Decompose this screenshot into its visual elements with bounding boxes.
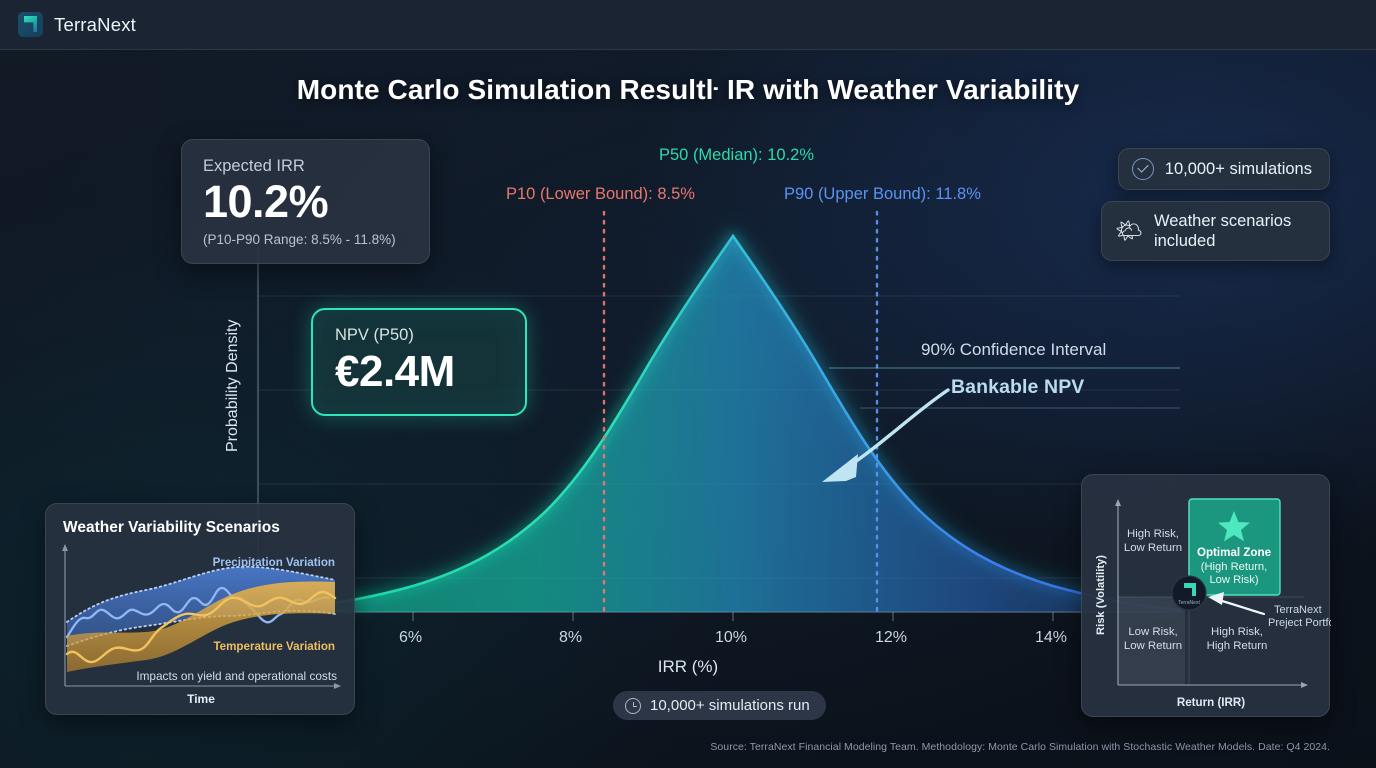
- quadrant-y-arrow: [1115, 499, 1121, 506]
- expected-irr-value: 10.2%: [203, 178, 409, 227]
- expected-irr-card: Expected IRR 10.2% (P10-P90 Range: 8.5% …: [181, 139, 430, 264]
- quadrant-label-bottom-right-2: High Return: [1207, 640, 1268, 652]
- optimal-zone-subtitle-1: (High Return,: [1201, 561, 1268, 573]
- clock-icon: [625, 698, 641, 714]
- expected-irr-label: Expected IRR: [203, 157, 409, 176]
- simulations-run-badge[interactable]: 10,000+ simulations run: [613, 691, 826, 720]
- weather-x-arrow: [334, 683, 341, 689]
- quadrant-xlabel: Return (IRR): [1177, 696, 1245, 709]
- x-ticks: [413, 612, 1053, 621]
- weather-scenarios-badge[interactable]: 🌤 Weather scenarios included: [1101, 201, 1330, 261]
- app-topbar: TerraNext: [0, 0, 1376, 50]
- weather-inset-title: Weather Variability Scenarios: [63, 519, 280, 537]
- xtick-14: 14%: [1035, 629, 1067, 647]
- xtick-10: 10%: [715, 629, 747, 647]
- optimal-zone-subtitle-2: Low Risk): [1209, 574, 1258, 586]
- check-circle-icon: [1132, 158, 1154, 180]
- quadrant-label-top-left-2: Low Return: [1124, 542, 1182, 554]
- p90-label: P90 (Upper Bound): 11.8%: [784, 185, 981, 204]
- temperature-series-label: Temperature Variation: [213, 640, 335, 653]
- confidence-interval-label: 90% Confidence Interval: [921, 340, 1106, 360]
- precipitation-series-label: Precipitation Variation: [213, 556, 335, 569]
- weather-caption: Impacts on yield and operational costs: [136, 669, 337, 683]
- xtick-6: 6%: [399, 629, 422, 647]
- simulations-badge-label: 10,000+ simulations: [1165, 159, 1312, 179]
- quadrant-label-bottom-left-2: Low Return: [1124, 640, 1182, 652]
- quadrant-ylabel: Risk (Volatility): [1095, 555, 1107, 635]
- portfolio-callout-line2: Preject Portfolio: [1268, 617, 1331, 629]
- bankable-npv-label: Bankable NPV: [951, 376, 1084, 399]
- quadrant-label-bottom-right: High Risk,: [1211, 626, 1263, 638]
- npv-value: €2.4M: [335, 348, 505, 396]
- chart-canvas: 6% 8% 10% 12% 14% IRR (%) Probability De…: [0, 0, 1376, 768]
- portfolio-marker-label: TerraNext: [1178, 600, 1200, 606]
- quadrant-label-top-left: High Risk,: [1127, 528, 1179, 540]
- weather-xlabel: Time: [187, 692, 215, 706]
- page-title: Monte Carlo Simulation Resultŀ IR with W…: [0, 74, 1376, 106]
- callout-arrow: [846, 390, 948, 468]
- simulations-badge[interactable]: 10,000+ simulations: [1118, 148, 1330, 190]
- simulations-run-label: 10,000+ simulations run: [650, 697, 810, 714]
- quadrant-label-bottom-left: Low Risk,: [1128, 626, 1177, 638]
- p50-label: P50 (Median): 10.2%: [659, 146, 814, 165]
- density-area: [258, 236, 1180, 612]
- npv-label: NPV (P50): [335, 326, 505, 345]
- expected-irr-range: (P10-P90 Range: 8.5% - 11.8%): [203, 232, 409, 247]
- p10-label: P10 (Lower Bound): 8.5%: [506, 185, 695, 204]
- xtick-12: 12%: [875, 629, 907, 647]
- npv-card: NPV (P50) €2.4M: [311, 308, 527, 416]
- optimal-zone-title: Optimal Zone: [1197, 546, 1272, 559]
- sun-behind-cloud-icon: 🌤: [1115, 220, 1143, 242]
- weather-scenarios-badge-label: Weather scenarios included: [1154, 211, 1312, 251]
- y-axis-label: Probability Density: [222, 294, 244, 478]
- weather-variability-inset: Weather Variability Scenarios: [45, 503, 355, 715]
- xtick-8: 8%: [559, 629, 582, 647]
- source-footnote: Source: TerraNext Financial Modeling Tea…: [710, 741, 1330, 753]
- quadrant-x-arrow: [1301, 682, 1308, 688]
- quadrant-chart: High Risk, Low Return Low Risk, Low Retu…: [1082, 475, 1331, 718]
- brand-name: TerraNext: [54, 14, 136, 36]
- portfolio-callout-line1: TerraNext: [1274, 604, 1322, 616]
- weather-y-arrow: [62, 544, 68, 551]
- risk-return-quadrant-inset: High Risk, Low Return Low Risk, Low Retu…: [1081, 474, 1330, 717]
- terranext-logo-icon: [18, 12, 43, 37]
